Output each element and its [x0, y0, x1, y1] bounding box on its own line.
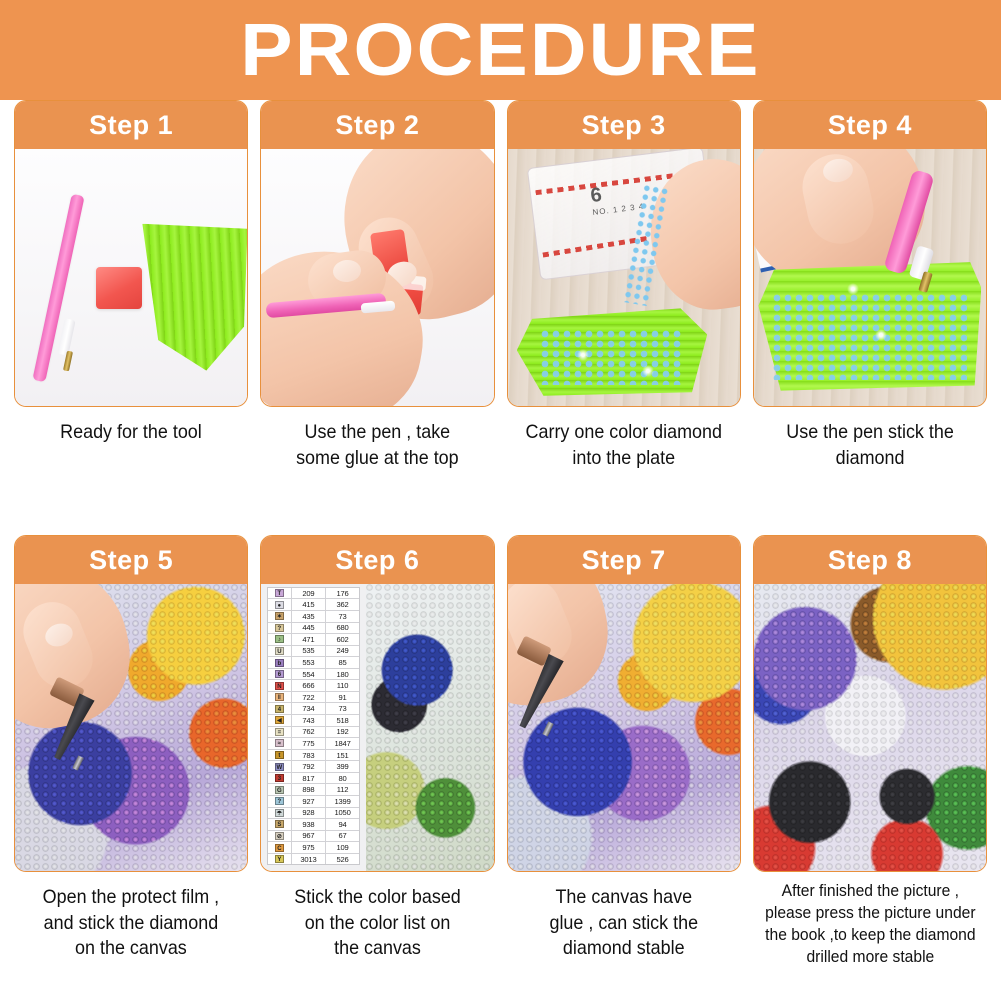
color-count: 94 — [326, 819, 359, 830]
sparkle-icon — [642, 365, 654, 377]
color-swatch: 3 — [275, 774, 284, 782]
color-swatch: W — [275, 763, 284, 771]
step-2-card: Step 2 — [260, 100, 494, 407]
color-swatch-symbol: ◀ — [268, 715, 292, 726]
color-count: 110 — [326, 680, 359, 691]
color-code: 666 — [292, 680, 327, 691]
color-swatch: C — [275, 844, 284, 852]
color-code: 535 — [292, 646, 327, 657]
color-swatch-symbol: ⊘ — [268, 831, 292, 842]
step-7-caption: The canvas have glue , can stick the dia… — [549, 885, 698, 962]
step-5-header: Step 5 — [15, 536, 247, 584]
color-swatch: ☂ — [275, 809, 284, 817]
step-4-image — [754, 149, 986, 406]
step-card-3: Step 3 6 NO. 1 2 3 4 — [501, 100, 747, 535]
color-list-row: N666110 — [268, 680, 359, 692]
step-8-card: Step 8 — [753, 535, 987, 872]
step-card-4: Step 4 — [747, 100, 993, 535]
step-card-5: Step 5 Open — [8, 535, 254, 981]
color-list-row: S93894 — [268, 819, 359, 831]
color-swatch-symbol: 4 — [268, 703, 292, 714]
color-list-row: T209176 — [268, 588, 359, 600]
step-6-label: Step 6 — [335, 545, 419, 576]
step-7-card: Step 7 — [507, 535, 741, 872]
color-count: 176 — [326, 588, 359, 599]
step-4-label: Step 4 — [828, 110, 912, 141]
color-swatch-symbol: b — [268, 657, 292, 668]
step-6-image: T209176●415362✶43573?445680♪471602U53524… — [261, 584, 493, 871]
pour-diamonds-illustration: 6 NO. 1 2 3 4 — [508, 149, 740, 406]
color-list-table: T209176●415362✶43573?445680♪471602U53524… — [267, 587, 360, 865]
color-count: 67 — [326, 831, 359, 842]
step-8-image — [754, 584, 986, 871]
place-diamond-illustration — [15, 584, 247, 871]
mosaic-canvas — [366, 584, 494, 871]
green-tray-icon — [139, 218, 247, 373]
color-count: 526 — [326, 854, 359, 865]
color-swatch-symbol: G — [268, 784, 292, 795]
step-8-header: Step 8 — [754, 536, 986, 584]
color-code: 435 — [292, 611, 327, 622]
color-swatch: N — [275, 682, 284, 690]
color-list-row: ◀743518 — [268, 715, 359, 727]
color-swatch-symbol: ? — [268, 623, 292, 634]
step-card-1: Step 1 Ready for the tool — [8, 100, 254, 535]
step-card-7: Step 7 The canvas have gl — [501, 535, 747, 981]
color-swatch: ✶ — [275, 612, 284, 620]
step-3-caption: Carry one color diamond into the plate — [525, 420, 721, 471]
color-code: 898 — [292, 784, 327, 795]
color-swatch: ? — [275, 797, 284, 805]
color-code: 722 — [292, 692, 327, 703]
color-swatch-symbol: ≈ — [268, 738, 292, 749]
color-list-row: 6554180 — [268, 669, 359, 681]
pen-tip-icon — [542, 721, 554, 736]
step-4-card: Step 4 — [753, 100, 987, 407]
step-card-2: Step 2 — [254, 100, 500, 535]
color-swatch: Y — [275, 855, 284, 863]
color-swatch-symbol: W — [268, 761, 292, 772]
mosaic-art — [366, 584, 494, 871]
step-8-caption: After finished the picture , please pres… — [765, 880, 975, 968]
color-count: 180 — [326, 669, 359, 680]
color-code: 209 — [292, 588, 327, 599]
color-count: 399 — [326, 761, 359, 772]
color-code: 792 — [292, 761, 327, 772]
step-5-card: Step 5 — [14, 535, 248, 872]
color-swatch: ≈ — [275, 739, 284, 747]
color-count: 192 — [326, 727, 359, 738]
color-swatch-symbol: ‖ — [268, 692, 292, 703]
color-swatch: = — [275, 728, 284, 736]
color-swatch-symbol: ☂ — [268, 808, 292, 819]
color-count: 1399 — [326, 796, 359, 807]
color-code: 775 — [292, 738, 327, 749]
color-list-row: W792399 — [268, 761, 359, 773]
page-title: PROCEDURE — [240, 13, 760, 87]
glue-square-icon — [96, 267, 142, 309]
color-count: 91 — [326, 692, 359, 703]
color-swatch-symbol: Y — [268, 854, 292, 865]
sparkle-icon — [577, 349, 589, 361]
finished-mosaic-canvas — [754, 584, 986, 871]
color-swatch: ♪ — [275, 635, 284, 643]
color-count: 249 — [326, 646, 359, 657]
color-list-row: ✶43573 — [268, 611, 359, 623]
color-list-row: ≈7751847 — [268, 738, 359, 750]
step-1-label: Step 1 — [89, 110, 173, 141]
color-list-row: =762192 — [268, 727, 359, 739]
tool-kit-illustration — [15, 149, 247, 406]
steps-grid: Step 1 Ready for the tool Step — [0, 100, 1001, 1001]
step-6-card: Step 6 T209176●415362✶43573?445680♪47160… — [260, 535, 494, 872]
color-swatch: 6 — [275, 670, 284, 678]
color-count: 73 — [326, 611, 359, 622]
color-swatch-symbol: C — [268, 842, 292, 853]
color-list-row: Y3013526 — [268, 854, 359, 865]
color-list-row: ?9271399 — [268, 796, 359, 808]
mosaic-dots — [754, 584, 986, 871]
color-swatch: T — [275, 589, 284, 597]
step-2-image — [261, 149, 493, 406]
step-1-caption: Ready for the tool — [60, 420, 202, 446]
color-list-row: t783151 — [268, 750, 359, 762]
color-list-row: G898112 — [268, 784, 359, 796]
mosaic-dots — [366, 584, 494, 871]
header-banner: PROCEDURE — [0, 0, 1001, 100]
color-count: 151 — [326, 750, 359, 761]
color-swatch-symbol: t — [268, 750, 292, 761]
color-count: 1050 — [326, 808, 359, 819]
pen-tip-icon — [57, 318, 75, 356]
step-1-image — [15, 149, 247, 406]
color-swatch: ◀ — [275, 716, 284, 724]
step-1-card: Step 1 — [14, 100, 248, 407]
step-2-header: Step 2 — [261, 101, 493, 149]
color-swatch-symbol: ? — [268, 796, 292, 807]
color-swatch: ‖ — [275, 693, 284, 701]
color-swatch: U — [275, 647, 284, 655]
step-5-caption: Open the protect film , and stick the di… — [43, 885, 219, 962]
color-code: 783 — [292, 750, 327, 761]
color-count: 80 — [326, 773, 359, 784]
step-4-header: Step 4 — [754, 101, 986, 149]
color-code: 743 — [292, 715, 327, 726]
color-code: 553 — [292, 657, 327, 668]
color-count: 85 — [326, 657, 359, 668]
pick-diamond-illustration — [754, 149, 986, 406]
step-5-label: Step 5 — [89, 545, 173, 576]
color-code: 415 — [292, 599, 327, 610]
color-swatch-symbol: ♪ — [268, 634, 292, 645]
color-swatch-symbol: T — [268, 588, 292, 599]
step-7-label: Step 7 — [582, 545, 666, 576]
color-list-row: ‖72291 — [268, 692, 359, 704]
step-2-caption: Use the pen , take some glue at the top — [296, 420, 459, 471]
color-code: 471 — [292, 634, 327, 645]
step-4-caption: Use the pen stick the diamond — [786, 420, 954, 471]
color-swatch-symbol: U — [268, 646, 292, 657]
color-count: 602 — [326, 634, 359, 645]
glue-on-pen-illustration — [261, 149, 493, 406]
color-code: 554 — [292, 669, 327, 680]
color-count: 680 — [326, 623, 359, 634]
color-list-row: ⊘96767 — [268, 831, 359, 843]
color-swatch-symbol: 6 — [268, 669, 292, 680]
color-count: 109 — [326, 842, 359, 853]
bag-number: 6 — [589, 184, 603, 207]
color-list-row: 473473 — [268, 703, 359, 715]
color-code: 928 — [292, 808, 327, 819]
color-code: 938 — [292, 819, 327, 830]
pen-tip-icon — [73, 756, 85, 771]
color-swatch: ⊘ — [275, 832, 284, 840]
color-swatch-symbol: = — [268, 727, 292, 738]
color-swatch: 4 — [275, 705, 284, 713]
step-8-label: Step 8 — [828, 545, 912, 576]
step-3-header: Step 3 — [508, 101, 740, 149]
color-list-row: C975109 — [268, 842, 359, 854]
step-3-label: Step 3 — [582, 110, 666, 141]
color-count: 1847 — [326, 738, 359, 749]
step-6-caption: Stick the color based on the color list … — [294, 885, 461, 962]
color-count: 518 — [326, 715, 359, 726]
color-swatch-symbol: ● — [268, 599, 292, 610]
blue-diamonds-icon — [540, 329, 684, 386]
step-2-label: Step 2 — [335, 110, 419, 141]
color-list-row: b55385 — [268, 657, 359, 669]
step-1-header: Step 1 — [15, 101, 247, 149]
step-7-header: Step 7 — [508, 536, 740, 584]
color-code: 817 — [292, 773, 327, 784]
color-swatch: t — [275, 751, 284, 759]
step-6-header: Step 6 — [261, 536, 493, 584]
step-3-card: Step 3 6 NO. 1 2 3 4 — [507, 100, 741, 407]
sparkle-icon — [847, 283, 859, 295]
color-list-row: ●415362 — [268, 599, 359, 611]
color-code: 3013 — [292, 854, 327, 865]
color-list-row: ?445680 — [268, 623, 359, 635]
color-list-row: ♪471602 — [268, 634, 359, 646]
step-card-6: Step 6 T209176●415362✶43573?445680♪47160… — [254, 535, 500, 981]
color-code: 734 — [292, 703, 327, 714]
color-swatch-symbol: N — [268, 680, 292, 691]
color-list-row: ☂9281050 — [268, 808, 359, 820]
color-code: 967 — [292, 831, 327, 842]
color-code: 927 — [292, 796, 327, 807]
step-5-image — [15, 584, 247, 871]
color-list-row: 381780 — [268, 773, 359, 785]
step-card-8: Step 8 After finished the picture , plea… — [747, 535, 993, 981]
color-code: 445 — [292, 623, 327, 634]
stick-diamond-illustration — [508, 584, 740, 871]
color-swatch-symbol: 3 — [268, 773, 292, 784]
color-code: 762 — [292, 727, 327, 738]
color-count: 362 — [326, 599, 359, 610]
blue-diamonds-icon — [772, 293, 967, 380]
color-swatch-symbol: S — [268, 819, 292, 830]
color-swatch: b — [275, 659, 284, 667]
color-swatch: S — [275, 820, 284, 828]
color-count: 112 — [326, 784, 359, 795]
sparkle-icon — [875, 329, 887, 341]
color-code: 975 — [292, 842, 327, 853]
procedure-infographic: PROCEDURE Step 1 Ready for — [0, 0, 1001, 1001]
color-swatch: ● — [275, 601, 284, 609]
color-count: 73 — [326, 703, 359, 714]
color-swatch-symbol: ✶ — [268, 611, 292, 622]
color-swatch: G — [275, 786, 284, 794]
step-3-image: 6 NO. 1 2 3 4 — [508, 149, 740, 406]
color-list-row: U535249 — [268, 646, 359, 658]
color-swatch: ? — [275, 624, 284, 632]
step-7-image — [508, 584, 740, 871]
